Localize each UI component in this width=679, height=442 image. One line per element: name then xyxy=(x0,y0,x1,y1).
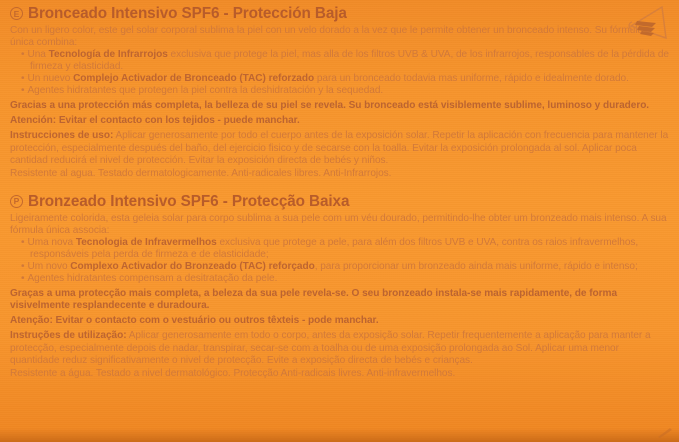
bullet-rest: para un bronceado todavia mas uniforme, … xyxy=(314,73,629,84)
list-item: •Agentes hidratantes compensam a desitra… xyxy=(10,273,669,285)
section-title-spanish: Bronceado Intensivo SPF6 - Protección Ba… xyxy=(28,5,347,23)
title-row-spanish: E Bronceado Intensivo SPF6 - Protección … xyxy=(10,5,669,23)
intro-paragraph-spanish: Con un ligero color, este gel solar corp… xyxy=(10,25,669,49)
list-item: •Agentes hidratantes que protegen la pie… xyxy=(10,85,669,97)
bullet-dot-icon: • xyxy=(21,85,24,96)
instructions-paragraph-portuguese: Instruções de utilização: Aplicar genero… xyxy=(10,330,669,366)
footer-paragraph-portuguese: Resistente a água. Testado a nivel derma… xyxy=(10,368,669,380)
bullet-bold: Complejo Activador de Bronceado (TAC) re… xyxy=(73,73,314,84)
benefit-paragraph-portuguese: Graças a uma protecção mais completa, a … xyxy=(10,288,669,312)
bullet-dot-icon: • xyxy=(21,237,24,248)
bullet-bold: Complexo Activador do Bronzeado (TAC) re… xyxy=(70,261,314,272)
language-section-spanish: E Bronceado Intensivo SPF6 - Protección … xyxy=(10,5,669,180)
bullet-dot-icon: • xyxy=(21,273,24,284)
list-item: •Um novo Complexo Activador do Bronzeado… xyxy=(10,261,669,273)
intro-paragraph-portuguese: Ligeiramente colorida, esta geleia solar… xyxy=(10,213,669,237)
language-badge-pt: P xyxy=(10,195,23,208)
language-badge-es: E xyxy=(10,7,23,20)
bullet-rest: , para proporcionar um bronzeado ainda m… xyxy=(315,261,638,272)
bullet-lead: Um novo xyxy=(27,261,70,272)
warning-paragraph-portuguese: Atenção: Evitar o contacto com o vestuár… xyxy=(10,315,669,327)
bullet-dot-icon: • xyxy=(21,261,24,272)
list-item: •Un nuevo Complejo Activador de Broncead… xyxy=(10,73,669,85)
footer-paragraph-spanish: Resistente al agua. Testado dermatologic… xyxy=(10,168,669,180)
instructions-label-portuguese: Instruções de utilização: xyxy=(10,330,127,341)
bullet-list-spanish: •Una Tecnología de Infrarrojos exclusiva… xyxy=(10,49,669,97)
label-sheet: E Bronceado Intensivo SPF6 - Protección … xyxy=(0,0,679,442)
list-item: •Una Tecnología de Infrarrojos exclusiva… xyxy=(10,49,669,73)
list-item: •Uma nova Tecnologia de Infravermelhos e… xyxy=(10,237,669,261)
instructions-paragraph-spanish: Instrucciones de uso: Aplicar generosame… xyxy=(10,130,669,166)
instructions-label-spanish: Instrucciones de uso: xyxy=(10,130,113,141)
bullet-list-portuguese: •Uma nova Tecnologia de Infravermelhos e… xyxy=(10,237,669,285)
section-title-portuguese: Bronzeado Intensivo SPF6 - Protecção Bai… xyxy=(28,193,349,211)
bullet-dot-icon: • xyxy=(21,73,24,84)
bullet-rest: Agentes hidratantes que protegen la piel… xyxy=(27,85,383,96)
bullet-bold: Tecnología de Infrarrojos xyxy=(49,49,168,60)
bullet-lead: Uma nova xyxy=(27,237,75,248)
brand-triangle-logo xyxy=(626,4,670,44)
bullet-bold: Tecnologia de Infravermelhos xyxy=(76,237,217,248)
language-section-portuguese: P Bronzeado Intensivo SPF6 - Protecção B… xyxy=(10,193,669,380)
benefit-paragraph-spanish: Gracias a una protección más completa, l… xyxy=(10,100,669,112)
bullet-rest: Agentes hidratantes compensam a desitrat… xyxy=(27,273,277,284)
corner-registration-mark-icon xyxy=(657,428,673,438)
warning-paragraph-spanish: Atención: Evitar el contacto con los tej… xyxy=(10,115,669,127)
title-row-portuguese: P Bronzeado Intensivo SPF6 - Protecção B… xyxy=(10,193,669,211)
bullet-lead: Un nuevo xyxy=(27,73,73,84)
bullet-lead: Una xyxy=(27,49,48,60)
bullet-dot-icon: • xyxy=(21,49,24,60)
